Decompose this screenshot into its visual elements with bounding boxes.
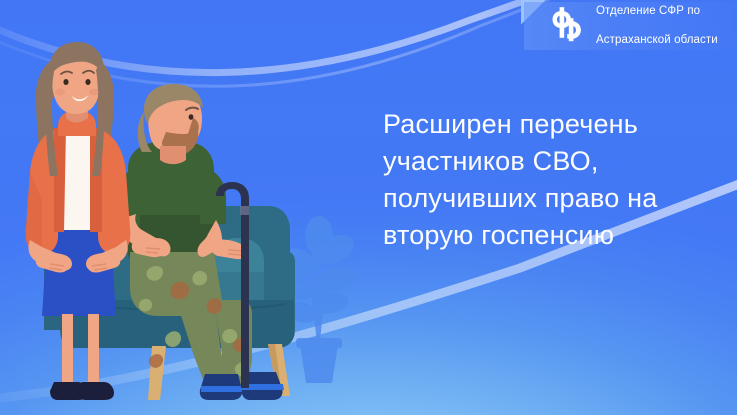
banner: Отделение СФР по Астраханской области Ра…: [0, 0, 737, 415]
illustration-scene: [0, 0, 420, 415]
logo-text: Отделение СФР по Астраханской области: [596, 0, 718, 62]
sfr-logo-mark-icon: [544, 4, 588, 48]
logo-text-line-1: Отделение СФР по: [596, 4, 718, 19]
logo-block[interactable]: Отделение СФР по Астраханской области: [524, 2, 737, 50]
headline-line-3: получивших право на: [383, 180, 713, 217]
headline-line-1: Расширен перечень: [383, 106, 713, 143]
headline-line-2: участников СВО,: [383, 143, 713, 180]
logo-text-line-2: Астраханской области: [596, 33, 718, 48]
headline: Расширен перечень участников СВО, получи…: [383, 106, 713, 254]
headline-line-4: вторую госпенсию: [383, 217, 713, 254]
